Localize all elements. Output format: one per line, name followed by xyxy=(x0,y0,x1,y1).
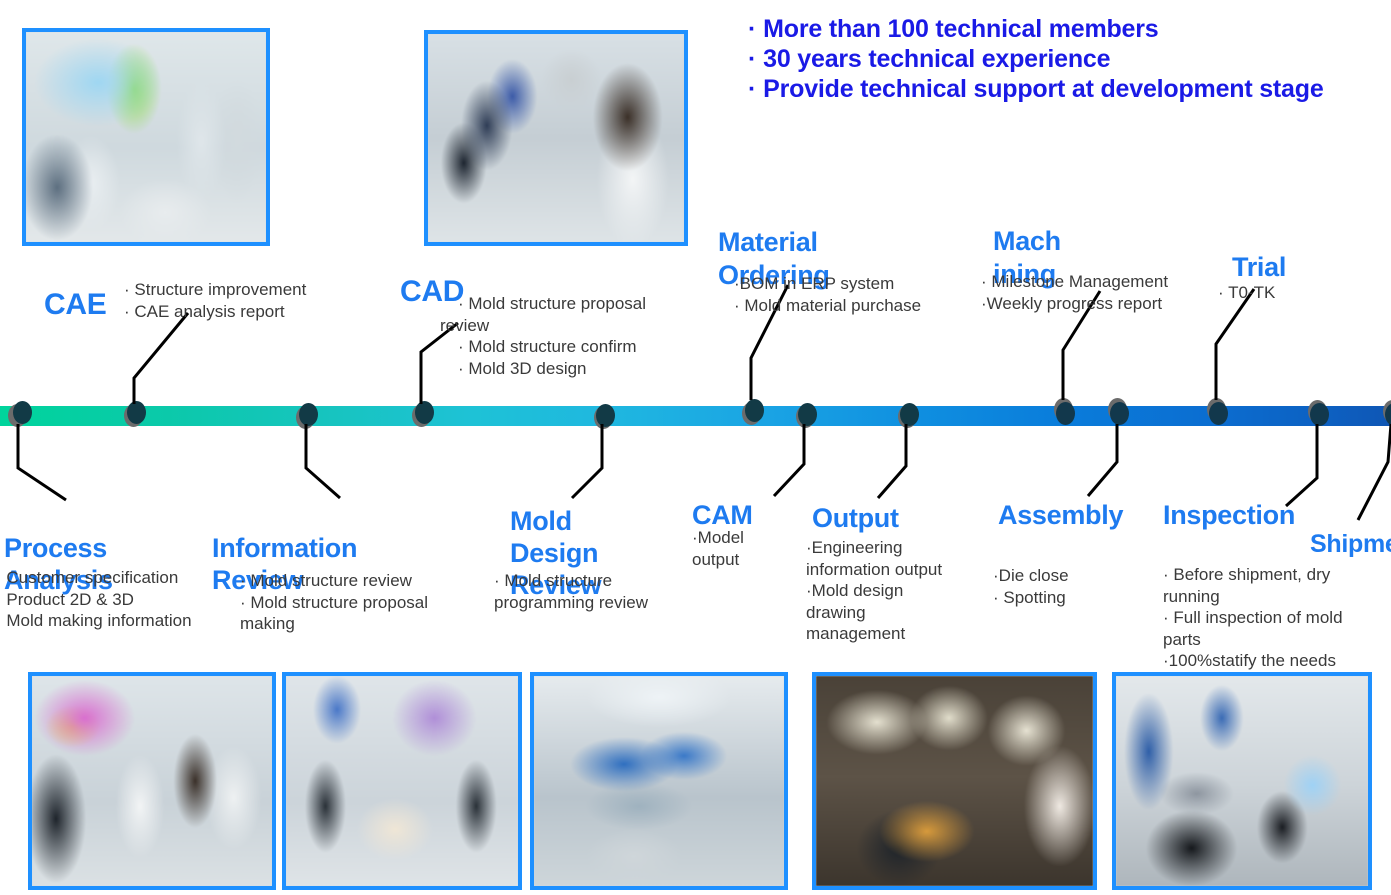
bullet: · Mold structure confirm xyxy=(458,336,646,358)
stage-bullets-inspection: · Before shipment, dry running · Full in… xyxy=(1163,564,1343,672)
timeline-node-trial[interactable] xyxy=(1207,398,1229,424)
node-dot-dark xyxy=(13,401,32,424)
photo-engineering-office-image xyxy=(534,676,784,886)
bullet: · Product 2D & 3D xyxy=(0,589,192,611)
stage-bullets-cae: · Structure improvement · CAE analysis r… xyxy=(124,279,306,322)
stage-title-cam-text: CAM xyxy=(692,500,753,530)
node-dot-dark xyxy=(1310,403,1329,426)
headline-text-3: Provide technical support at development… xyxy=(763,75,1323,103)
stage-title-output-text: Output xyxy=(812,503,899,533)
stage-title-assembly: Assembly xyxy=(998,500,1123,531)
stage-title-inspection: Inspection xyxy=(1163,500,1295,531)
timeline-node-process-analysis[interactable] xyxy=(8,401,30,427)
headline-line-1: ·More than 100 technical members xyxy=(748,14,1388,44)
bullet: · Mold making information xyxy=(0,610,192,632)
bullet: · Mold material purchase xyxy=(734,295,921,317)
timeline-node-output[interactable] xyxy=(898,403,920,429)
node-dot-dark xyxy=(1110,402,1129,425)
photo-shopfloor-inspection: Workers in caps inspecting mold at shop … xyxy=(812,672,1097,890)
bullet: · Full inspection of mold xyxy=(1163,607,1343,629)
node-dot-dark xyxy=(798,403,817,426)
stage-bullets-trial: · T0-TK xyxy=(1218,282,1275,304)
node-dot-dark xyxy=(299,403,318,426)
photo-engineering-office: Large open-plan engineering office with … xyxy=(530,672,788,890)
bullet: · Mold structure xyxy=(494,570,648,592)
timeline-node-cad[interactable] xyxy=(412,401,434,427)
stage-bullets-process-analysis: · Customer specification · Product 2D & … xyxy=(0,567,192,632)
bullet: · Mold structure review xyxy=(240,570,428,592)
headline-bullets: ·More than 100 technical members ·30 yea… xyxy=(748,14,1388,104)
stage-bullets-mold-design-review: · Mold structure programming review xyxy=(494,570,648,613)
bullet: programming review xyxy=(494,592,648,614)
headline-text-2: 30 years technical experience xyxy=(763,45,1110,73)
bullet: ·BOM in ERP system xyxy=(734,273,921,295)
headline-text-1: More than 100 technical members xyxy=(763,15,1158,43)
stage-title-cae-text: CAE xyxy=(44,288,106,321)
timeline-node-cam[interactable] xyxy=(796,403,818,429)
bullet: ·Weekly progress report xyxy=(981,293,1168,315)
timeline-node-shipment[interactable] xyxy=(1383,400,1391,426)
bullet: · Milestone Management xyxy=(981,271,1168,293)
timeline-bar xyxy=(0,406,1391,426)
bullet: ·Die close xyxy=(993,565,1069,587)
bullet: drawing xyxy=(806,602,942,624)
stage-bullets-output: ·Engineering information output ·Mold de… xyxy=(806,537,942,645)
headline-line-3: ·Provide technical support at developmen… xyxy=(748,74,1388,104)
bullet: · Mold structure proposal xyxy=(458,293,646,315)
bullet: · T0-TK xyxy=(1218,282,1275,304)
stage-title-shipment: Shipme xyxy=(1310,530,1391,559)
bullet: ·Model xyxy=(692,527,744,549)
slide-canvas: Engineers reviewing CAE analysis on moni… xyxy=(0,0,1391,895)
node-dot-dark xyxy=(1209,402,1228,425)
headline-line-2: ·30 years technical experience xyxy=(748,44,1388,74)
photo-shopfloor-inspection-image xyxy=(816,676,1093,886)
stage-title-output: Output xyxy=(812,503,899,534)
bullet: ·Engineering xyxy=(806,537,942,559)
bullet: ·Mold design xyxy=(806,580,942,602)
node-dot-dark xyxy=(596,404,615,427)
node-dot-dark xyxy=(415,401,434,424)
photo-meeting-room: Design review meeting around round table… xyxy=(282,672,522,890)
node-dot-dark xyxy=(900,403,919,426)
timeline-node-material-ordering[interactable] xyxy=(742,399,764,425)
photo-meeting-room-image xyxy=(286,676,518,886)
timeline-node-information-review[interactable] xyxy=(296,403,318,429)
stage-title-assembly-text: Assembly xyxy=(998,500,1123,530)
bullet: ·100%statify the needs xyxy=(1163,650,1343,672)
stage-bullets-assembly: ·Die close · Spotting xyxy=(993,565,1069,608)
photo-cad-workstations-image xyxy=(428,34,684,242)
bullet: · Mold structure proposal xyxy=(240,592,428,614)
bullet: review xyxy=(440,315,646,337)
headline-bullet-dot-2: · xyxy=(748,45,756,73)
node-dot-dark xyxy=(745,399,764,422)
bullet: · Spotting xyxy=(993,587,1069,609)
photo-design-review: Team reviewing mold layout on projected … xyxy=(28,672,276,890)
headline-bullet-dot-1: · xyxy=(748,15,756,43)
timeline-node-cae[interactable] xyxy=(124,401,146,427)
bullet: · Customer specification xyxy=(0,567,192,589)
bullet: information output xyxy=(806,559,942,581)
photo-cae-meeting: Engineers reviewing CAE analysis on moni… xyxy=(22,28,270,246)
node-dot-dark xyxy=(127,401,146,424)
stage-bullets-cam: ·Model output xyxy=(692,527,744,570)
node-dot-dark xyxy=(1056,402,1075,425)
photo-cad-workstations: Row of designers working at CAD workstat… xyxy=(424,30,688,246)
bullet: parts xyxy=(1163,629,1343,651)
photo-cmm-lab: Coordinate measuring machine in inspecti… xyxy=(1112,672,1372,890)
photo-cae-meeting-image xyxy=(26,32,266,242)
timeline-node-inspection[interactable] xyxy=(1308,400,1330,426)
timeline-node-machining[interactable] xyxy=(1054,398,1076,424)
headline-bullet-dot-3: · xyxy=(748,75,756,103)
bullet: making xyxy=(240,613,428,635)
bullet: · Before shipment, dry xyxy=(1163,564,1343,586)
stage-title-shipment-text: Shipme xyxy=(1310,530,1391,558)
timeline-node-mold-design-review[interactable] xyxy=(594,404,616,430)
stage-title-trial: Trial xyxy=(1232,252,1286,283)
stage-title-cad: CAD xyxy=(400,275,464,309)
stage-title-cae: CAE xyxy=(44,288,106,322)
timeline-node-assembly[interactable] xyxy=(1108,398,1130,424)
bullet: · Structure improvement xyxy=(124,279,306,301)
bullet: running xyxy=(1163,586,1343,608)
photo-design-review-image xyxy=(32,676,272,886)
stage-bullets-material-ordering: ·BOM in ERP system · Mold material purch… xyxy=(734,273,921,316)
bullet: · CAE analysis report xyxy=(124,301,306,323)
stage-bullets-machining: · Milestone Management ·Weekly progress … xyxy=(981,271,1168,314)
photo-cmm-lab-image xyxy=(1116,676,1368,886)
bullet: · Mold 3D design xyxy=(458,358,646,380)
stage-bullets-cad: · Mold structure proposal review · Mold … xyxy=(458,293,646,379)
bullet: output xyxy=(692,549,744,571)
stage-bullets-information-review: · Mold structure review · Mold structure… xyxy=(240,570,428,635)
bullet: management xyxy=(806,623,942,645)
stage-title-trial-text: Trial xyxy=(1232,252,1286,282)
stage-title-inspection-text: Inspection xyxy=(1163,500,1295,530)
stage-title-cad-text: CAD xyxy=(400,275,464,308)
